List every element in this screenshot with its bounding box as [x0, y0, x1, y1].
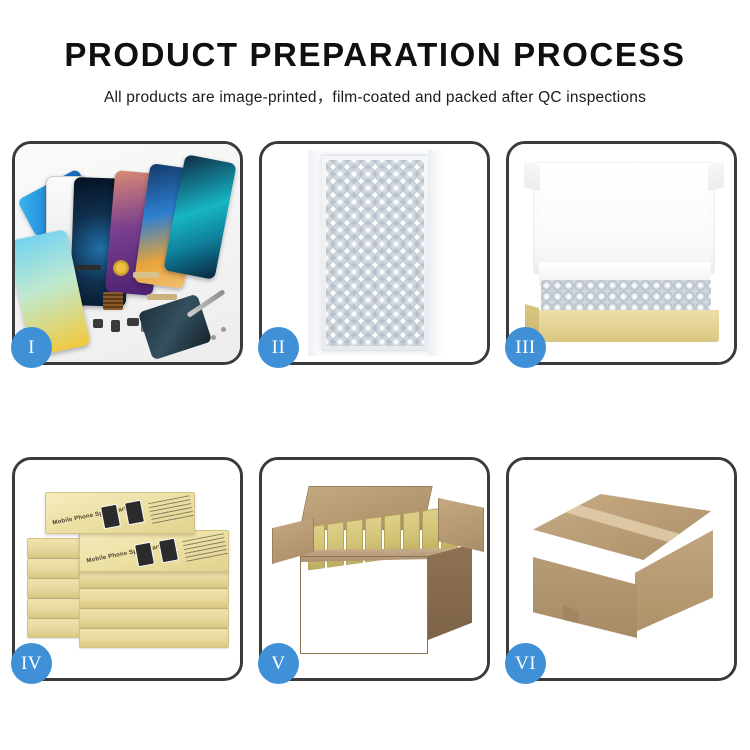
- header: PRODUCT PREPARATION PROCESS All products…: [0, 0, 750, 107]
- part-screw-2: [221, 327, 226, 332]
- page-subtitle: All products are image-printed，film-coat…: [0, 85, 750, 107]
- stacked-box-top-front: Mobile Phone Spare Parts: [79, 530, 229, 572]
- infographic-page: PRODUCT PREPARATION PROCESS All products…: [0, 0, 750, 750]
- step-5-image: [262, 460, 487, 678]
- part-small-2: [111, 320, 120, 332]
- box-spec-lines-rear: [148, 495, 193, 525]
- box-spec-lines-front: [182, 533, 227, 563]
- part-screw-1: [211, 335, 216, 340]
- bubble-wrap-edge-left: [308, 150, 322, 356]
- step-panel-4: Mobile Phone Spare Parts Mobile Phone Sp…: [12, 457, 243, 681]
- step-panel-1: I: [12, 141, 243, 365]
- step-badge-2: II: [258, 327, 299, 368]
- inner-box-lid: [533, 162, 715, 274]
- bubble-grid-offset: [326, 160, 424, 346]
- box-phone-graphic-front-2: [158, 538, 179, 564]
- bubble-wrap-edge-right: [428, 150, 442, 356]
- step-1-image: [15, 144, 240, 362]
- step-panel-3: III: [506, 141, 737, 365]
- part-small-1: [93, 319, 103, 328]
- step-badge-3: III: [505, 327, 546, 368]
- step-panel-6: VI: [506, 457, 737, 681]
- part-small-3: [127, 318, 139, 326]
- process-grid: I II III: [12, 141, 738, 681]
- part-connector-bar: [75, 265, 101, 270]
- step-6-image: [509, 460, 734, 678]
- part-chip-grid: [103, 292, 123, 310]
- step-badge-4: IV: [11, 643, 52, 684]
- sealed-carton-front: [533, 546, 637, 638]
- step-badge-5: V: [258, 643, 299, 684]
- part-vibration-motor: [113, 260, 129, 276]
- carton-seam-tab-lower: [563, 661, 577, 678]
- bubble-wrap-sheet: [321, 155, 429, 351]
- stacked-box-back-3: [79, 588, 229, 608]
- part-flex-cable-b: [147, 294, 177, 300]
- part-flex-cable-a: [133, 272, 159, 278]
- carton-front-face: [300, 556, 428, 654]
- stacked-box-top-rear: Mobile Phone Spare Parts: [45, 492, 195, 534]
- step-panel-5: V: [259, 457, 490, 681]
- step-badge-1: I: [11, 327, 52, 368]
- packing-tape-strip: [559, 500, 699, 550]
- carton-seam-tab-upper: [563, 604, 579, 633]
- sealed-carton: [525, 494, 721, 644]
- step-2-image: [262, 144, 487, 362]
- box-phone-graphic-rear-2: [124, 500, 145, 526]
- stacked-box-back-5: [79, 628, 229, 648]
- step-panel-2: II: [259, 141, 490, 365]
- page-title: PRODUCT PREPARATION PROCESS: [0, 36, 750, 74]
- box-stack: Mobile Phone Spare Parts Mobile Phone Sp…: [27, 486, 232, 658]
- inner-box-item: [422, 508, 439, 554]
- carton-side-face: [428, 544, 472, 640]
- step-3-image: [509, 144, 734, 362]
- inner-box-bubble-contents: [541, 280, 711, 312]
- stacked-box-back-4: [79, 608, 229, 628]
- step-4-image: Mobile Phone Spare Parts Mobile Phone Sp…: [15, 460, 240, 678]
- inner-box-base: [533, 310, 719, 342]
- step-badge-6: VI: [505, 643, 546, 684]
